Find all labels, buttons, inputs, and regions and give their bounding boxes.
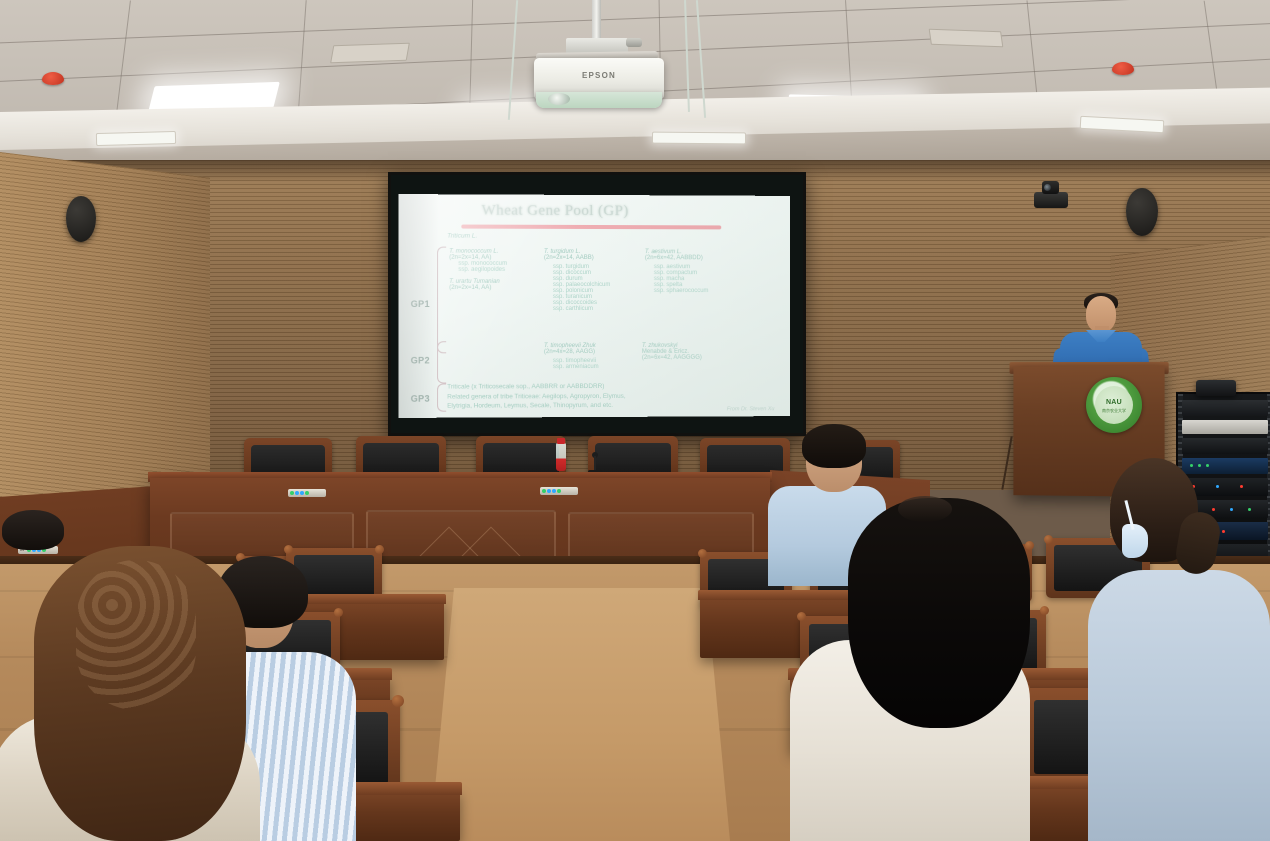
- gp1-column-3: T. aestivum L. (2n=6x=42, AABBDD) ssp. a…: [645, 249, 749, 294]
- projection-screen-frame: Wheat Gene Pool (GP) Triticum L. GP1 T. …: [388, 172, 806, 436]
- university-emblem: NAU 南京农业大学: [1086, 377, 1142, 433]
- rack-unit-patch: [1182, 420, 1268, 434]
- strip-light-2: [652, 132, 746, 145]
- rack-unit-mixer: [1182, 400, 1268, 416]
- hair-texture: [76, 560, 196, 710]
- desk-control-panel[interactable]: [540, 487, 578, 495]
- ptz-camera: [1034, 192, 1068, 208]
- ceiling-vent: [330, 43, 410, 64]
- smoke-detector-icon: [1112, 62, 1134, 75]
- rack-unit-amplifier: [1182, 438, 1268, 454]
- gp3-line-2: Related genera of tribe Triticeae: Aegil…: [447, 393, 625, 401]
- wall-speaker-left: [66, 196, 96, 242]
- gp3-line-1: Triticale (x Triticosecale sop., AABBRR …: [447, 383, 604, 391]
- gp2-column-1: T. timopheevii Zhuk (2n=4x=28, AAGG) ssp…: [544, 343, 636, 370]
- water-bottle: [556, 443, 566, 471]
- slide-genus-header: Triticum L.: [447, 233, 477, 240]
- gp1-column-1: T. monococcum L. (2n=2x=14, AA) ssp. mon…: [449, 249, 536, 291]
- projector-lens-icon: [548, 93, 570, 105]
- smoke-detector-icon: [42, 72, 64, 85]
- ceiling-vent: [929, 29, 1004, 48]
- wall-speaker-right-a: [1126, 188, 1158, 236]
- seminar-room-photo: EPSON Wheat Gene Pool (GP) Triticum L. G…: [0, 0, 1270, 841]
- audience-hair: [848, 498, 1030, 728]
- rack-unit-network-switch: [1182, 458, 1268, 474]
- desk-control-panel[interactable]: [288, 489, 326, 497]
- slide-credit: From Dr. Steven Xu: [727, 406, 775, 412]
- gp3-line-3: Elytrigia, Hordeum, Leymus, Secale, Thin…: [447, 402, 613, 410]
- emblem-initials: NAU: [1095, 399, 1133, 406]
- audience-hair-part: [898, 496, 952, 522]
- slide-title: Wheat Gene Pool (GP): [482, 202, 629, 220]
- wall-speaker-right-b: [1196, 380, 1236, 396]
- emblem-subtitle: 南京农业大学: [1095, 408, 1133, 414]
- center-aisle: [430, 588, 730, 841]
- audience-hair: [802, 424, 866, 468]
- gp1-column-2: T. turgidum L. (2n=2x=14, AABB) ssp. tur…: [544, 249, 636, 312]
- projector-brand-label: EPSON: [534, 71, 664, 80]
- strip-light-1: [96, 131, 176, 146]
- slide-title-rule: [461, 225, 721, 230]
- face-mask: [1122, 524, 1148, 558]
- audience-hair: [2, 510, 64, 550]
- projection-screen: Wheat Gene Pool (GP) Triticum L. GP1 T. …: [398, 194, 790, 418]
- gp2-column-2: T. zhukovskyi Menabde & Ericz. (2n=6x=42…: [642, 343, 747, 361]
- audience-shirt: [1088, 570, 1270, 841]
